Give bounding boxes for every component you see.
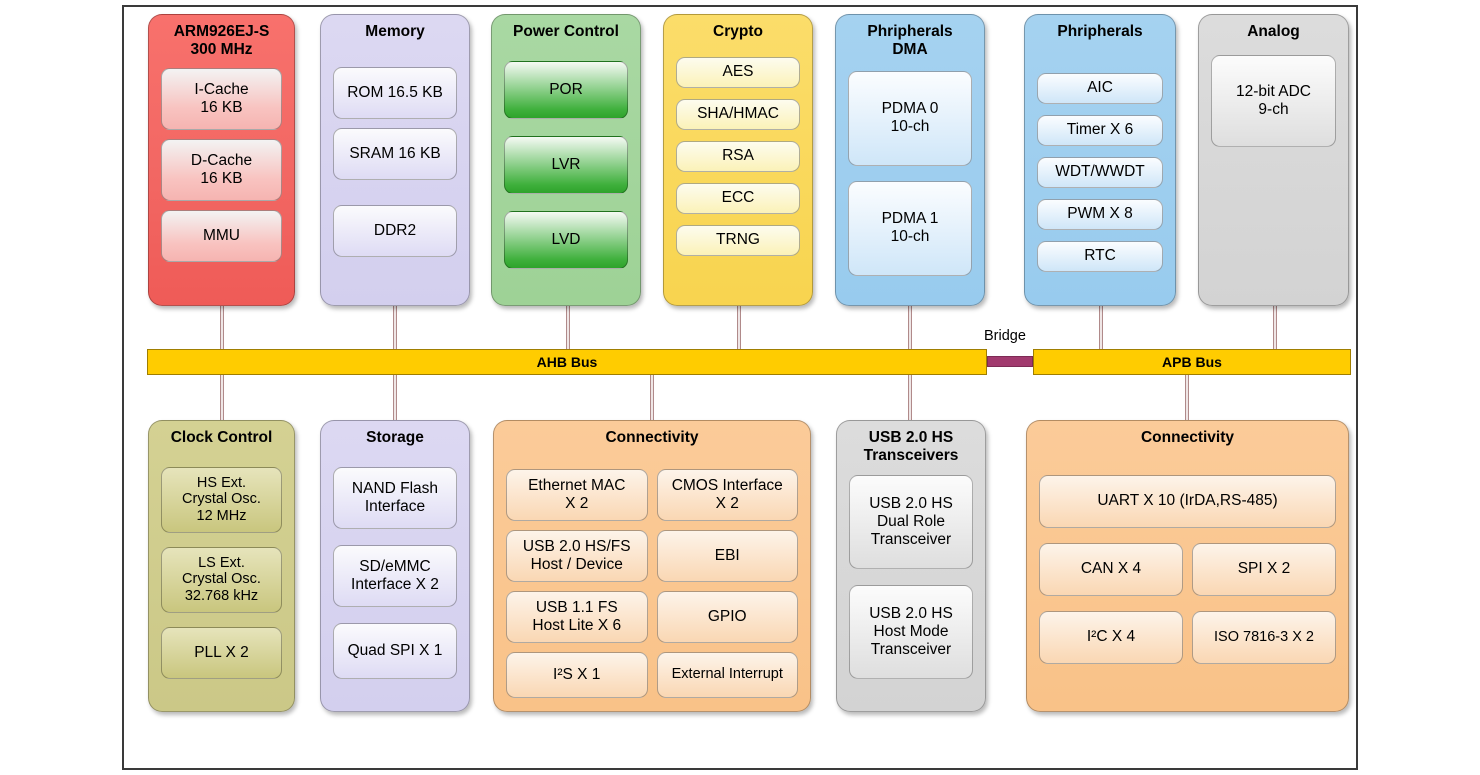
block-analog-title: Analog <box>1199 15 1348 41</box>
connector-dma-to-ahb <box>908 300 912 355</box>
connector-ahb-to-connectivity <box>650 372 654 422</box>
sub-nand-flash[interactable]: NAND Flash Interface <box>333 467 457 529</box>
block-power-title: Power Control <box>492 15 640 41</box>
sub-hs-ext-osc[interactable]: HS Ext. Crystal Osc. 12 MHz <box>161 467 282 533</box>
block-connectivity-apb-title: Connectivity <box>1027 421 1348 447</box>
block-storage-title: Storage <box>321 421 469 447</box>
block-storage[interactable]: Storage NAND Flash Interface SD/eMMC Int… <box>320 420 470 712</box>
sub-wdt-wwdt[interactable]: WDT/WWDT <box>1037 157 1163 188</box>
sub-lvd[interactable]: LVD <box>504 211 628 269</box>
block-usb-transceivers[interactable]: USB 2.0 HS Transceivers USB 2.0 HS Dual … <box>836 420 986 712</box>
sub-rsa[interactable]: RSA <box>676 141 800 172</box>
block-crypto-title: Crypto <box>664 15 812 41</box>
diagram-canvas: AHB Bus Bridge APB Bus ARM926EJ-S 300 MH… <box>0 0 1480 775</box>
connector-apb-to-connectivity <box>1185 372 1189 422</box>
block-memory[interactable]: Memory ROM 16.5 KB SRAM 16 KB DDR2 <box>320 14 470 306</box>
block-cpu-title: ARM926EJ-S 300 MHz <box>149 15 294 59</box>
connector-ahb-to-clock <box>220 372 224 422</box>
sub-rom[interactable]: ROM 16.5 KB <box>333 67 457 119</box>
sub-usb-host-mode[interactable]: USB 2.0 HS Host Mode Transceiver <box>849 585 973 679</box>
connector-ahb-to-storage <box>393 372 397 422</box>
block-clock-control[interactable]: Clock Control HS Ext. Crystal Osc. 12 MH… <box>148 420 295 712</box>
block-analog[interactable]: Analog 12-bit ADC 9-ch <box>1198 14 1349 306</box>
sub-mmu[interactable]: MMU <box>161 210 282 262</box>
ahb-bus-label: AHB Bus <box>537 354 598 370</box>
sub-external-interrupt[interactable]: External Interrupt <box>657 652 799 698</box>
sub-ls-ext-osc[interactable]: LS Ext. Crystal Osc. 32.768 kHz <box>161 547 282 613</box>
connectivity-apb-row2-left: I²C X 4 <box>1039 611 1183 664</box>
connector-ahb-to-usb <box>908 372 912 422</box>
sub-quad-spi[interactable]: Quad SPI X 1 <box>333 623 457 679</box>
apb-bus: APB Bus <box>1033 349 1351 375</box>
sub-usb-dual-role[interactable]: USB 2.0 HS Dual Role Transceiver <box>849 475 973 569</box>
connector-crypto-to-ahb <box>737 300 741 355</box>
block-cpu[interactable]: ARM926EJ-S 300 MHz I-Cache 16 KB D-Cache… <box>148 14 295 306</box>
sub-gpio[interactable]: GPIO <box>657 591 799 643</box>
sub-timer[interactable]: Timer X 6 <box>1037 115 1163 146</box>
bridge-label: Bridge <box>984 328 1026 344</box>
block-peripherals[interactable]: Phripherals AIC Timer X 6 WDT/WWDT PWM X… <box>1024 14 1176 306</box>
sub-pwm[interactable]: PWM X 8 <box>1037 199 1163 230</box>
sub-can[interactable]: CAN X 4 <box>1039 543 1183 596</box>
sub-ecc[interactable]: ECC <box>676 183 800 214</box>
block-peripherals-dma[interactable]: Phripherals DMA PDMA 0 10-ch PDMA 1 10-c… <box>835 14 985 306</box>
ahb-bus: AHB Bus <box>147 349 987 375</box>
sub-usb11-fs[interactable]: USB 1.1 FS Host Lite X 6 <box>506 591 648 643</box>
sub-por[interactable]: POR <box>504 61 628 119</box>
connector-analog-to-apb <box>1273 300 1277 355</box>
block-usb-transceivers-title: USB 2.0 HS Transceivers <box>837 421 985 465</box>
connector-periph-to-apb <box>1099 300 1103 355</box>
block-connectivity-ahb-title: Connectivity <box>494 421 810 447</box>
sub-pll[interactable]: PLL X 2 <box>161 627 282 679</box>
connectivity-apb-row1-left: CAN X 4 <box>1039 543 1183 596</box>
connectivity-apb-row2-right: ISO 7816-3 X 2 <box>1192 611 1336 664</box>
block-peripherals-dma-title: Phripherals DMA <box>836 15 984 59</box>
block-peripherals-title: Phripherals <box>1025 15 1175 41</box>
connector-power-to-ahb <box>566 300 570 355</box>
sub-cmos-interface[interactable]: CMOS Interface X 2 <box>657 469 799 521</box>
connector-memory-to-ahb <box>393 300 397 355</box>
sub-i2c[interactable]: I²C X 4 <box>1039 611 1183 664</box>
sub-spi[interactable]: SPI X 2 <box>1192 543 1336 596</box>
sub-aic[interactable]: AIC <box>1037 73 1163 104</box>
sub-ethernet-mac[interactable]: Ethernet MAC X 2 <box>506 469 648 521</box>
sub-sram[interactable]: SRAM 16 KB <box>333 128 457 180</box>
block-memory-title: Memory <box>321 15 469 41</box>
sub-pdma-1[interactable]: PDMA 1 10-ch <box>848 181 972 276</box>
block-power-control[interactable]: Power Control POR LVR LVD <box>491 14 641 306</box>
block-clock-control-title: Clock Control <box>149 421 294 447</box>
connectivity-ahb-column-left: Ethernet MAC X 2 USB 2.0 HS/FS Host / De… <box>506 469 648 698</box>
sub-adc[interactable]: 12-bit ADC 9-ch <box>1211 55 1336 147</box>
sub-sha-hmac[interactable]: SHA/HMAC <box>676 99 800 130</box>
connector-cpu-to-ahb <box>220 300 224 355</box>
sub-sd-emmc[interactable]: SD/eMMC Interface X 2 <box>333 545 457 607</box>
block-connectivity-ahb[interactable]: Connectivity Ethernet MAC X 2 USB 2.0 HS… <box>493 420 811 712</box>
sub-ddr2[interactable]: DDR2 <box>333 205 457 257</box>
sub-i-cache[interactable]: I-Cache 16 KB <box>161 68 282 130</box>
bridge-connector <box>987 356 1033 367</box>
sub-i2s[interactable]: I²S X 1 <box>506 652 648 698</box>
sub-rtc[interactable]: RTC <box>1037 241 1163 272</box>
sub-iso-7816[interactable]: ISO 7816-3 X 2 <box>1192 611 1336 664</box>
sub-ebi[interactable]: EBI <box>657 530 799 582</box>
block-connectivity-apb[interactable]: Connectivity UART X 10 (IrDA,RS-485) CAN… <box>1026 420 1349 712</box>
sub-aes[interactable]: AES <box>676 57 800 88</box>
sub-trng[interactable]: TRNG <box>676 225 800 256</box>
sub-lvr[interactable]: LVR <box>504 136 628 194</box>
block-crypto[interactable]: Crypto AES SHA/HMAC RSA ECC TRNG <box>663 14 813 306</box>
sub-uart[interactable]: UART X 10 (IrDA,RS-485) <box>1039 475 1336 528</box>
sub-usb20-hsfs[interactable]: USB 2.0 HS/FS Host / Device <box>506 530 648 582</box>
connectivity-apb-row1-right: SPI X 2 <box>1192 543 1336 596</box>
sub-pdma-0[interactable]: PDMA 0 10-ch <box>848 71 972 166</box>
apb-bus-label: APB Bus <box>1162 354 1222 370</box>
sub-d-cache[interactable]: D-Cache 16 KB <box>161 139 282 201</box>
connectivity-ahb-column-right: CMOS Interface X 2 EBI GPIO External Int… <box>657 469 799 698</box>
